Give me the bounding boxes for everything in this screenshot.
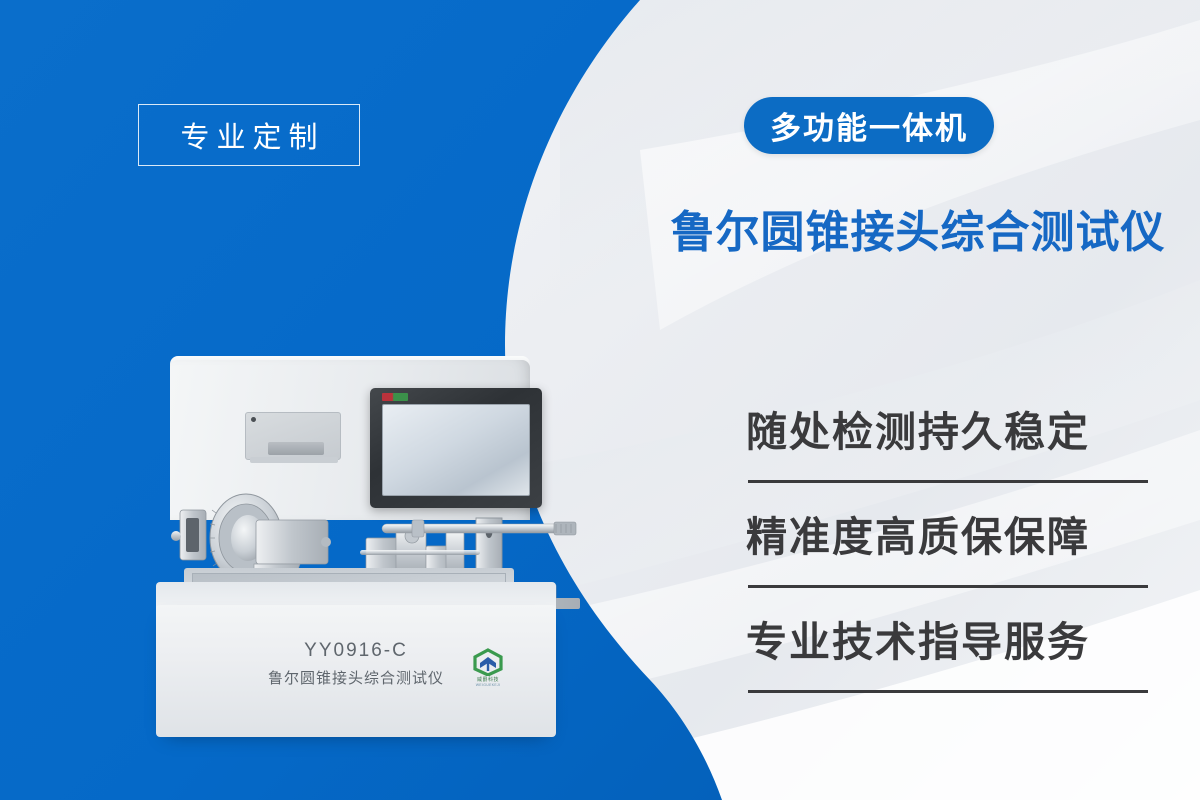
feature-list: 随处检测持久稳定 精准度高质保保障 专业技术指导服务 [746, 398, 1158, 713]
product-headline: 鲁尔圆锥接头综合测试仪 [636, 196, 1200, 260]
feature-label: 精准度高质保保障 [746, 503, 1158, 571]
right-content-column: 多功能一体机 鲁尔圆锥接头综合测试仪 随处检测持久稳定 精准度高质保保障 专业技… [636, 0, 1200, 800]
feature-divider [748, 690, 1148, 693]
feature-label: 专业技术指导服务 [746, 608, 1158, 676]
custom-made-badge-label: 专业定制 [173, 114, 324, 156]
poster-stage: 专业定制 [0, 0, 1200, 800]
feature-label: 随处检测持久稳定 [746, 398, 1158, 466]
feature-item: 随处检测持久稳定 [746, 398, 1158, 503]
brand-logo-subtext: WEIGUEKEJI [468, 683, 508, 687]
hmi-brand-sticker [382, 393, 408, 401]
product-machine-image: YY0916-C 鲁尔圆锥接头综合测试仪 威爵科技 WEIGUEKEJI [150, 350, 670, 770]
feature-item: 精准度高质保保障 [746, 503, 1158, 608]
multifunction-pill-label: 多功能一体机 [770, 103, 968, 148]
machine-brand-logo: 威爵科技 WEIGUEKEJI [468, 648, 508, 690]
custom-made-badge: 专业定制 [138, 104, 360, 166]
brand-logo-icon [468, 648, 508, 676]
feature-item: 专业技术指导服务 [746, 608, 1158, 713]
feature-divider [748, 585, 1148, 588]
machine-access-panel [245, 412, 341, 460]
brand-logo-text: 威爵科技 [468, 676, 508, 683]
machine-access-handle [268, 442, 324, 455]
machine-access-foot [250, 457, 338, 463]
feature-divider [748, 480, 1148, 483]
multifunction-pill-badge: 多功能一体机 [744, 97, 994, 154]
